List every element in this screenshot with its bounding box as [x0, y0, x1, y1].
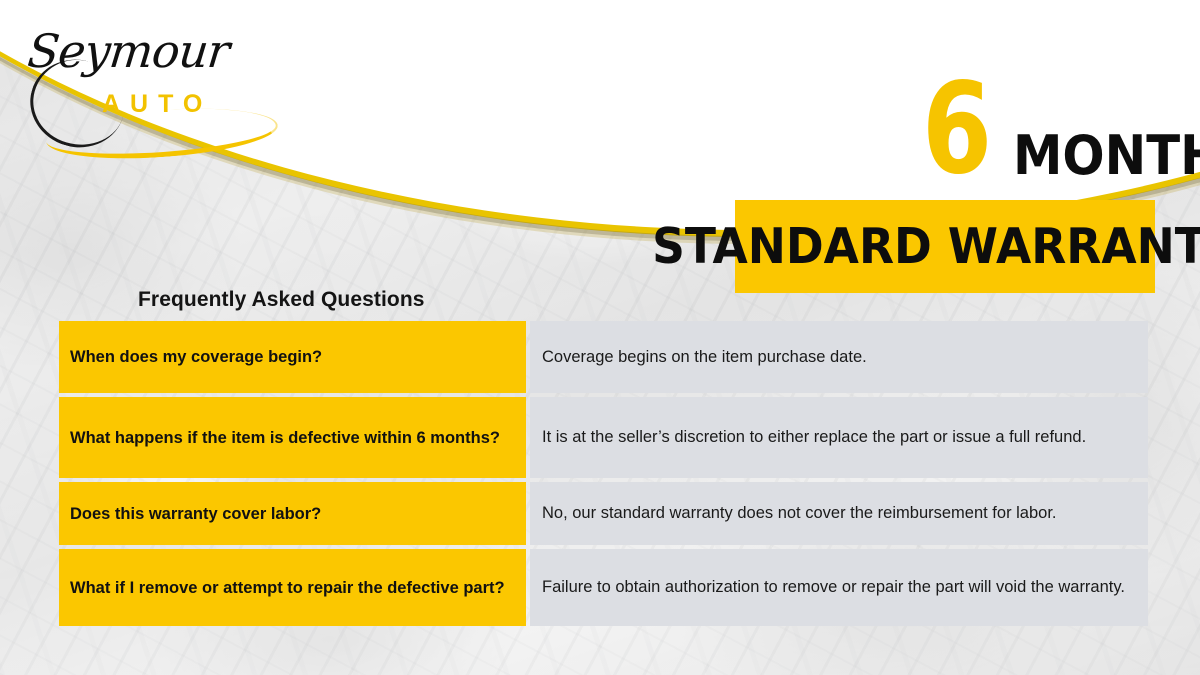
logo-script-name: Seymour: [25, 24, 231, 78]
faq-answer: It is at the seller’s discretion to eith…: [530, 397, 1148, 478]
faq-answer: No, our standard warranty does not cover…: [530, 482, 1148, 545]
faq-question: Does this warranty cover labor?: [59, 482, 526, 545]
standard-warranty-banner-text: STANDARD WARRANTY: [652, 222, 1200, 271]
warranty-slide: Seymour AUTO 6 MONTH STANDARD WARRANTY F…: [0, 0, 1200, 675]
brand-logo: Seymour AUTO: [24, 18, 254, 133]
faq-table: When does my coverage begin? Coverage be…: [59, 321, 1148, 626]
table-row: What happens if the item is defective wi…: [59, 397, 1148, 478]
faq-question: When does my coverage begin?: [59, 321, 526, 393]
standard-warranty-banner: STANDARD WARRANTY: [735, 200, 1155, 293]
warranty-duration-unit: MONTH: [1013, 129, 1200, 183]
faq-answer: Coverage begins on the item purchase dat…: [530, 321, 1148, 393]
faq-answer: Failure to obtain authorization to remov…: [530, 549, 1148, 626]
table-row: When does my coverage begin? Coverage be…: [59, 321, 1148, 393]
warranty-duration-number: 6: [922, 66, 989, 192]
table-row: Does this warranty cover labor? No, our …: [59, 482, 1148, 545]
faq-question: What happens if the item is defective wi…: [59, 397, 526, 478]
table-row: What if I remove or attempt to repair th…: [59, 549, 1148, 626]
faq-heading: Frequently Asked Questions: [138, 288, 425, 312]
faq-question: What if I remove or attempt to repair th…: [59, 549, 526, 626]
